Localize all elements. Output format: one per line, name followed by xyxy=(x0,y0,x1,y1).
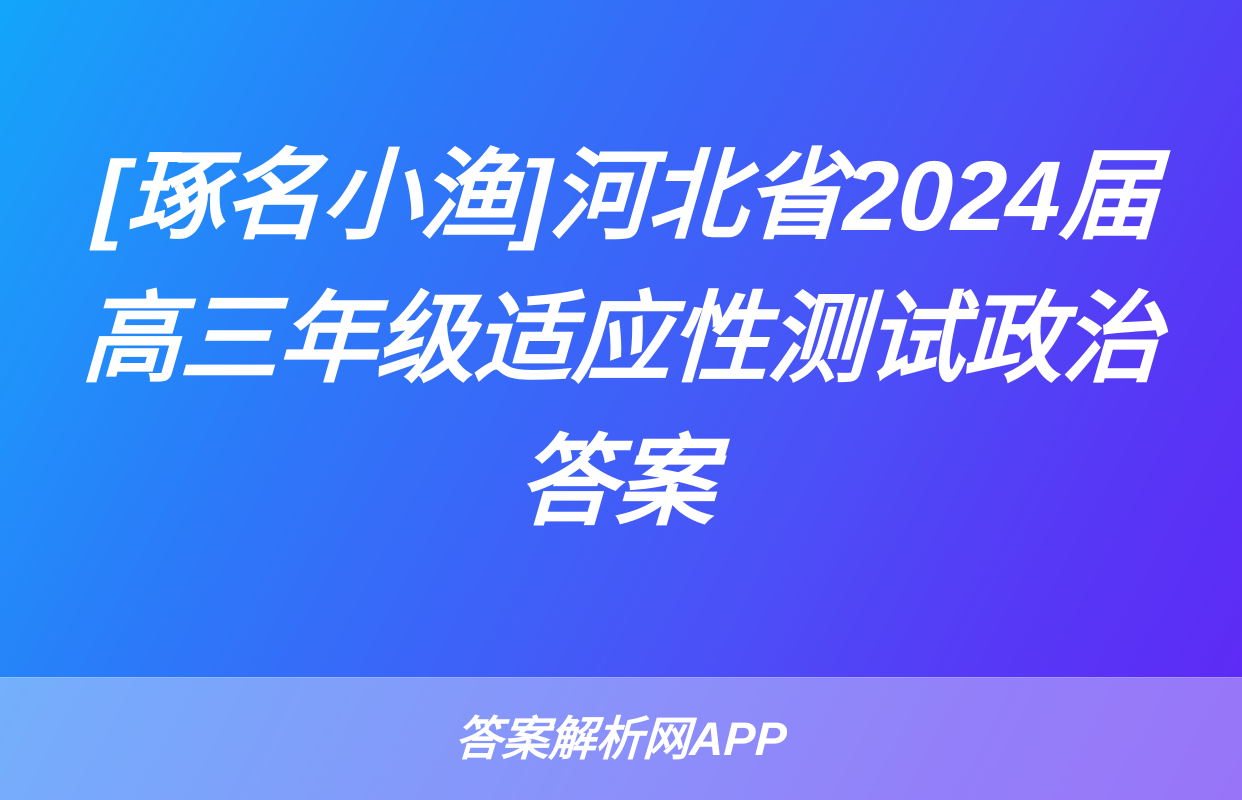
footer-brand-band: 答案解析网APP xyxy=(0,677,1242,800)
brand-label: 答案解析网APP xyxy=(454,713,788,765)
page-title: [琢名小渔]河北省2024届高三年级适应性测试政治答案 xyxy=(45,124,1198,553)
headline-area: [琢名小渔]河北省2024届高三年级适应性测试政治答案 xyxy=(0,0,1242,677)
cover-card: [琢名小渔]河北省2024届高三年级适应性测试政治答案 答案解析网APP xyxy=(0,0,1242,800)
